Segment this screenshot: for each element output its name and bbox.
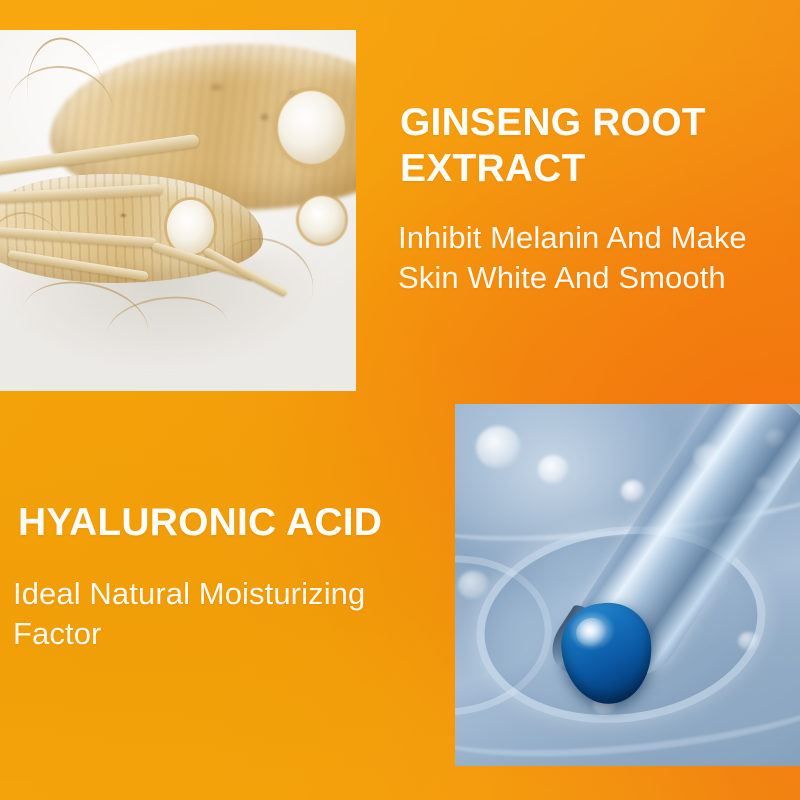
hyaluronic-headline: HYALURONIC ACID [18, 500, 438, 546]
hyaluronic-subline: Ideal Natural Moisturizing Factor [13, 574, 438, 654]
hyaluronic-text-block: HYALURONIC ACID Ideal Natural Moisturizi… [18, 500, 438, 654]
ginseng-cut-face-secondary [299, 196, 345, 243]
bokeh-highlight [538, 455, 569, 484]
ginseng-headline: GINSENG ROOT EXTRACT [400, 100, 798, 192]
ginseng-root-image [0, 30, 356, 391]
bokeh-highlight [621, 480, 645, 502]
ginseng-subline: Inhibit Melanin And Make Skin White And … [398, 218, 798, 298]
bokeh-highlight [476, 426, 521, 469]
ginseng-cut-face [278, 91, 346, 163]
ginseng-cut-face-mid [167, 200, 213, 254]
ginseng-text-block: GINSENG ROOT EXTRACT Inhibit Melanin And… [400, 100, 798, 298]
blue-droplet-image [455, 404, 800, 766]
